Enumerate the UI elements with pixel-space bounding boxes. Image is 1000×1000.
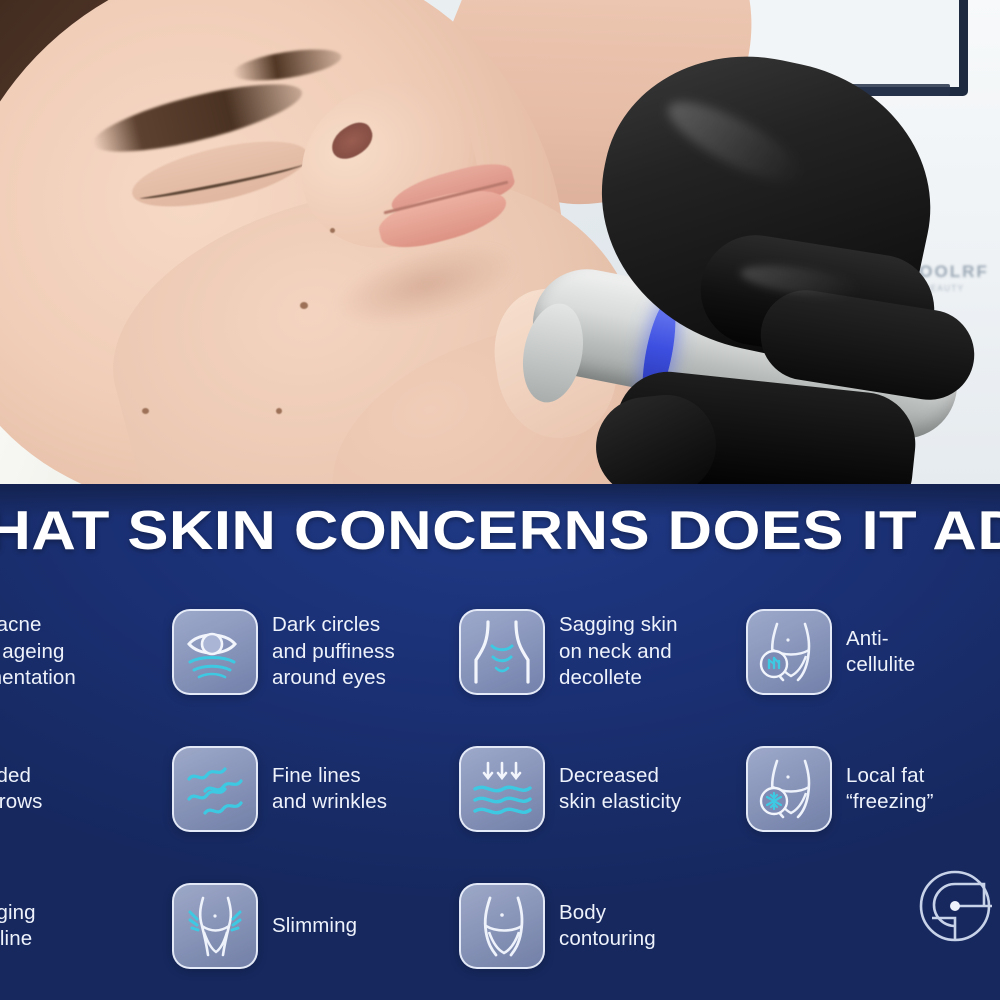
skin-mole [330, 228, 335, 233]
concern-item-fine-lines[interactable]: Fine lines and wrinkles [172, 729, 459, 849]
concern-label: Decreased skin elasticity [559, 763, 681, 816]
neck-waves-icon [459, 609, 545, 695]
concerns-panel: WHAT SKIN CONCERNS DOES IT ADDRESS? t ac… [0, 484, 1000, 1000]
poster-canvas: COOLRF BY BEAUTY [0, 0, 1000, 1000]
wrinkle-lines-icon [172, 746, 258, 832]
concern-item-dark-circles[interactable]: Dark circles and puffiness around eyes [172, 592, 459, 712]
concern-item-body-contouring[interactable]: Body contouring [459, 866, 746, 986]
concern-label: Local fat “freezing” [846, 763, 934, 816]
concern-item-clipped[interactable]: t acne d ageing mentation [0, 592, 172, 712]
concern-label: gging wline [0, 900, 36, 953]
body-snowflake-icon [746, 746, 832, 832]
eye-waves-icon [172, 609, 258, 695]
concern-item-clipped[interactable]: oded Brows [0, 729, 172, 849]
concern-label: Dark circles and puffiness around eyes [272, 612, 395, 691]
skin-mole [142, 408, 149, 414]
concern-label: Sagging skin on neck and decollete [559, 612, 678, 691]
skin-mole [300, 302, 308, 309]
concern-label: Body contouring [559, 900, 656, 953]
page-title: WHAT SKIN CONCERNS DOES IT ADDRESS? [0, 498, 1000, 562]
concern-label: oded Brows [0, 763, 42, 816]
concern-label: Slimming [272, 913, 357, 939]
waist-slimming-icon [172, 883, 258, 969]
body-cellulite-icon [746, 609, 832, 695]
concern-item-clipped[interactable]: gging wline [0, 866, 172, 986]
concern-label: t acne d ageing mentation [0, 612, 76, 691]
target-crosshair-logo[interactable] [906, 860, 1000, 952]
concern-item-anti-cellulite[interactable]: Anti- cellulite [746, 592, 1000, 712]
concern-label: Fine lines and wrinkles [272, 763, 387, 816]
page-title-text: WHAT SKIN CONCERNS DOES IT ADDRESS? [0, 498, 1000, 562]
concern-item-skin-elasticity[interactable]: Decreased skin elasticity [459, 729, 746, 849]
concern-label: Anti- cellulite [846, 626, 915, 679]
concern-item-slimming[interactable]: Slimming [172, 866, 459, 986]
concern-item-fat-freezing[interactable]: Local fat “freezing” [746, 729, 1000, 849]
concern-item-sagging-neck[interactable]: Sagging skin on neck and decollete [459, 592, 746, 712]
arrows-waves-icon [459, 746, 545, 832]
body-contour-icon [459, 883, 545, 969]
concerns-grid: t acne d ageing mentation Dark circles a… [0, 592, 1000, 986]
treatment-photo: COOLRF BY BEAUTY [0, 0, 1000, 484]
skin-mole [276, 408, 282, 414]
